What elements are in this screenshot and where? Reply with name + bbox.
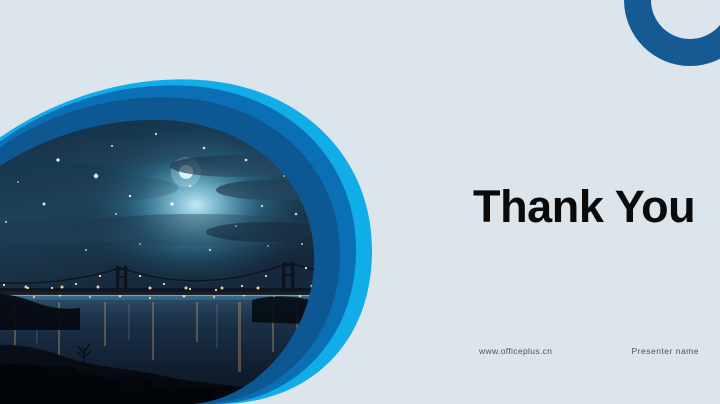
quarter-ring-arc-icon [624,0,720,66]
page-title: Thank You [473,183,695,230]
left-photo-blob [0,0,420,404]
footer-presenter-name: Presenter name [632,346,699,356]
night-bridge-photo [0,100,360,404]
blob-svg [0,0,420,404]
footer-website[interactable]: www.officeplus.cn [479,346,552,356]
blob-border-dark [0,97,340,404]
top-right-ring-decoration [624,0,720,66]
blob-layer-mid [0,85,356,404]
blob-accent-cyan [0,79,372,404]
slide-canvas: Thank You www.officeplus.cn Presenter na… [0,0,720,404]
slide-footer: www.officeplus.cn Presenter name [479,346,699,356]
